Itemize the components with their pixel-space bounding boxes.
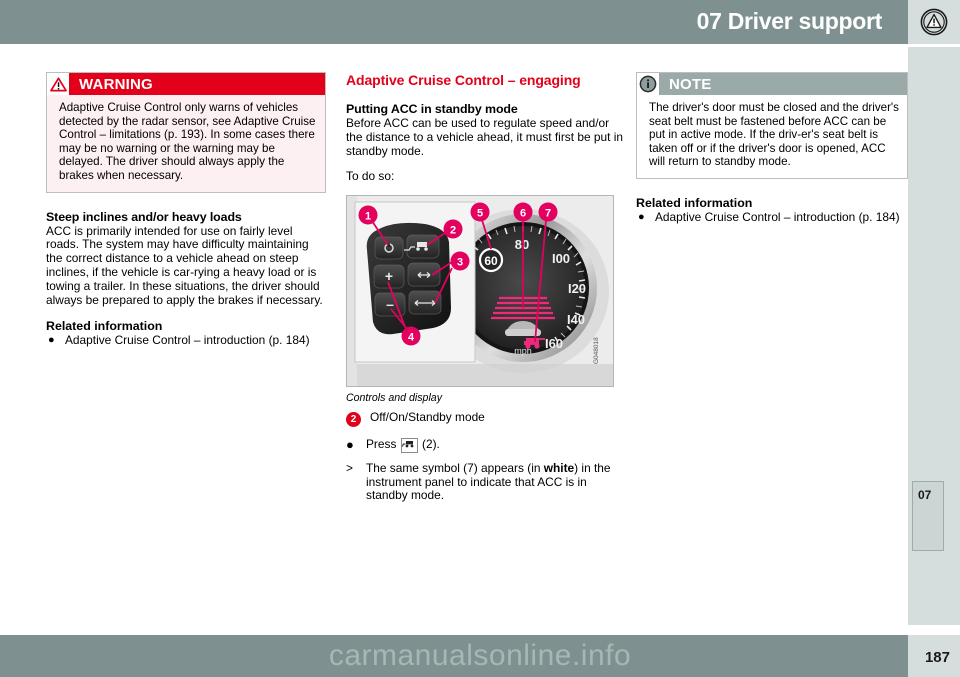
svg-text:60: 60 (484, 254, 498, 268)
warning-box: WARNING Adaptive Cruise Control only war… (46, 72, 326, 193)
info-icon (637, 73, 659, 95)
step-row: 2 Off/On/Standby mode (346, 411, 626, 427)
acc-car-icon (401, 438, 418, 453)
middle-column: Adaptive Cruise Control – engaging Putti… (346, 72, 626, 512)
instruction-press-row: ● Press (2). (346, 438, 626, 453)
section-title: Adaptive Cruise Control – engaging (346, 72, 626, 88)
press-suffix: (2). (419, 437, 440, 451)
step-label: Off/On/Standby mode (370, 411, 485, 425)
page-header: 07 Driver support (0, 0, 960, 44)
bullet-icon: ● (48, 334, 55, 348)
svg-text:I60: I60 (545, 336, 563, 351)
steep-inclines-text: ACC is primarily intended for use on fai… (46, 225, 326, 308)
warning-box-header: WARNING (47, 73, 325, 95)
warning-triangle-icon (47, 73, 69, 95)
instruction-result-row: > The same symbol (7) appears (in white)… (346, 462, 626, 504)
steep-inclines-heading: Steep inclines and/or heavy loads (46, 210, 326, 224)
figure-image-code: G048018 (593, 336, 600, 363)
header-divider (0, 44, 960, 47)
press-label: Press (366, 437, 400, 451)
svg-text:+: + (385, 268, 393, 284)
page-title: 07 Driver support (697, 8, 882, 35)
list-item-label: Adaptive Cruise Control – introduction (… (65, 333, 310, 347)
svg-text:I20: I20 (568, 281, 586, 296)
left-related-heading: Related information (46, 319, 326, 333)
watermark: carmanualsonline.info (0, 639, 960, 673)
result-bold-word: white (544, 461, 574, 475)
controls-and-display-figure: 0 0 40 80 I00 I20 I40 I60 mph 60 (346, 195, 614, 387)
bullet-icon: ● (638, 211, 645, 225)
instruction-press-text: Press (2). (366, 438, 440, 453)
bullet-icon: ● (346, 438, 366, 451)
step-badge: 2 (346, 412, 361, 427)
svg-text:I40: I40 (567, 312, 585, 327)
result-marker: > (346, 462, 366, 476)
svg-text:80: 80 (515, 237, 529, 252)
warning-box-text: Adaptive Cruise Control only warns of ve… (47, 95, 325, 192)
left-column: WARNING Adaptive Cruise Control only war… (46, 72, 326, 348)
svg-text:2: 2 (450, 224, 456, 236)
warning-box-label: WARNING (79, 76, 153, 93)
speed-limit-sign: 60 (480, 249, 502, 271)
svg-text:3: 3 (457, 256, 463, 268)
svg-text:6: 6 (520, 207, 526, 219)
note-box: NOTE The driver's door must be closed an… (636, 72, 908, 179)
note-box-label: NOTE (669, 76, 711, 93)
page-number: 187 (925, 649, 950, 666)
list-item[interactable]: ● Adaptive Cruise Control – introduction… (636, 211, 908, 225)
standby-lead-in: To do so: (346, 170, 626, 184)
list-item-label: Adaptive Cruise Control – introduction (… (655, 210, 900, 224)
svg-text:4: 4 (408, 331, 415, 343)
right-column: NOTE The driver's door must be closed an… (636, 72, 908, 225)
svg-text:–: – (386, 296, 394, 312)
right-related-list: ● Adaptive Cruise Control – introduction… (636, 211, 908, 225)
note-box-header: NOTE (637, 73, 907, 95)
list-item[interactable]: ● Adaptive Cruise Control – introduction… (46, 334, 326, 348)
chapter-tab[interactable]: 07 (912, 481, 944, 551)
warning-triangle-circle-icon (920, 8, 948, 36)
result-text-before: The same symbol (7) appears (in (366, 461, 544, 475)
instruction-result-text: The same symbol (7) appears (in white) i… (366, 462, 626, 504)
standby-text: Before ACC can be used to regulate speed… (346, 117, 626, 159)
note-box-text: The driver's door must be closed and the… (637, 95, 907, 178)
page-footer: carmanualsonline.info 187 (0, 635, 960, 677)
figure-illustration: 0 0 40 80 I00 I20 I40 I60 mph 60 (347, 196, 613, 386)
svg-text:5: 5 (477, 207, 483, 219)
figure-caption: Controls and display (346, 392, 626, 404)
svg-text:I00: I00 (552, 251, 570, 266)
standby-heading: Putting ACC in standby mode (346, 102, 626, 116)
svg-text:7: 7 (545, 207, 551, 219)
chapter-tab-label: 07 (918, 488, 931, 502)
right-related-heading: Related information (636, 196, 908, 210)
svg-text:1: 1 (365, 210, 371, 222)
left-related-list: ● Adaptive Cruise Control – introduction… (46, 334, 326, 348)
